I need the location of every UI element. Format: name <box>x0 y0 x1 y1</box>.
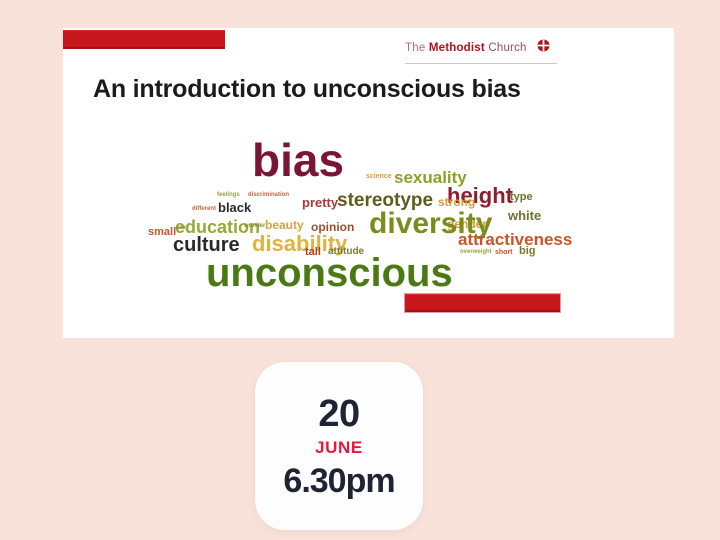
logo-brand: Methodist <box>429 42 485 54</box>
cloud-word: attractiveness <box>458 231 572 248</box>
logo-divider <box>405 63 557 64</box>
cloud-word: black <box>218 201 251 214</box>
cloud-word: science <box>366 173 392 180</box>
event-time: 6.30pm <box>283 464 394 498</box>
cloud-word: discrimination <box>248 192 289 198</box>
cloud-word: pretty <box>302 196 338 209</box>
methodist-cross-icon <box>537 39 550 52</box>
accent-bar-top <box>63 30 225 49</box>
cloud-word: different <box>192 206 216 212</box>
word-cloud: biassciencesexualityheighttypefeelingsdi… <box>148 113 578 293</box>
cloud-word: sex <box>176 225 186 231</box>
logo-wordmark: The Methodist Church <box>405 41 557 55</box>
accent-bar-bottom <box>404 293 561 313</box>
cloud-word: beauty <box>265 219 304 231</box>
logo-prefix: The <box>405 42 425 54</box>
event-date-card: 20 JUNE 6.30pm <box>255 362 423 530</box>
logo-suffix: Church <box>488 42 526 54</box>
methodist-church-logo: The Methodist Church <box>405 41 557 71</box>
cloud-word: overweight <box>460 249 492 255</box>
page-title: An introduction to unconscious bias <box>93 75 521 104</box>
cloud-word: wonder <box>244 223 265 229</box>
cloud-word: short <box>495 249 513 256</box>
event-month: JUNE <box>315 439 363 456</box>
poster-canvas: The Methodist Church An introduction to … <box>0 0 720 540</box>
slide-panel: The Methodist Church An introduction to … <box>63 28 674 338</box>
cloud-word: big <box>519 246 536 257</box>
cloud-word: unconscious <box>206 253 453 293</box>
cloud-word: feelings <box>217 192 240 198</box>
cloud-word: white <box>508 209 541 222</box>
cloud-word: bias <box>252 137 344 183</box>
cloud-word: small <box>148 227 176 238</box>
event-day: 20 <box>318 395 359 433</box>
cloud-word: type <box>510 192 533 203</box>
